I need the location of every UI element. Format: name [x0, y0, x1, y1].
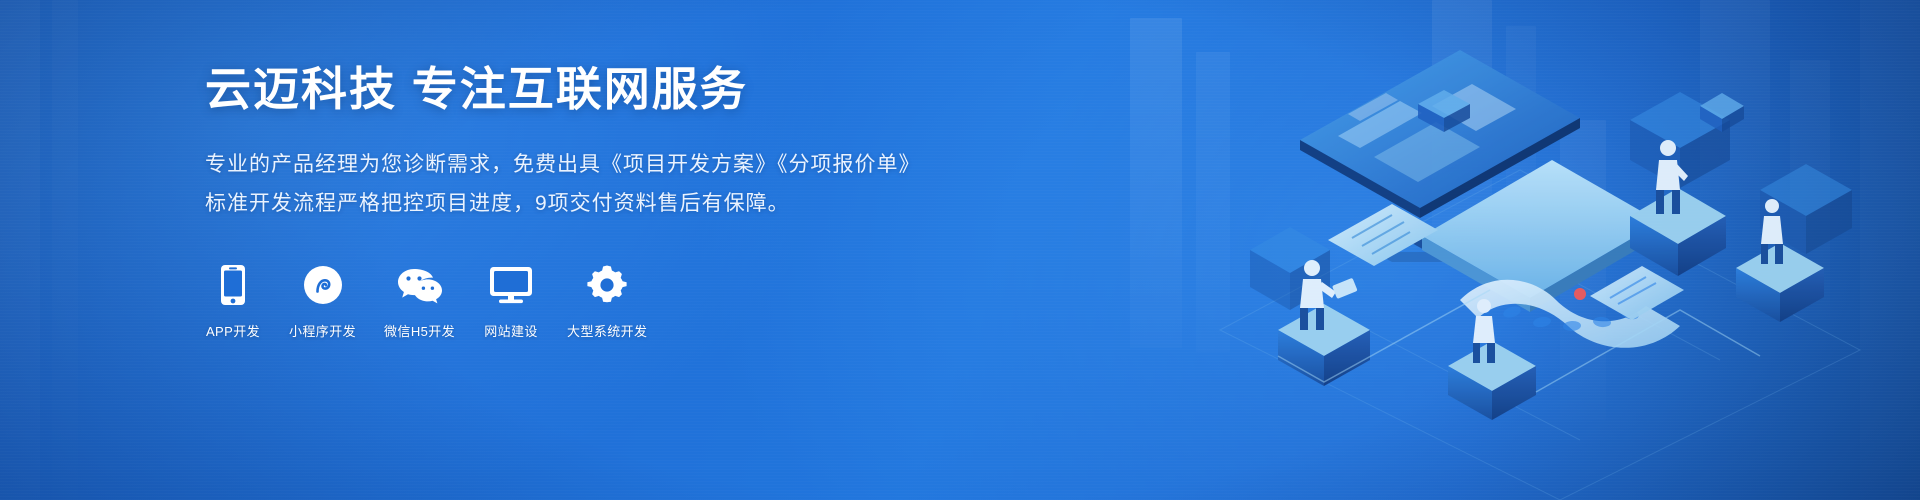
service-item-large-system[interactable]: 大型系统开发: [567, 262, 647, 340]
hero-banner: 云迈科技 专注互联网服务 专业的产品经理为您诊断需求，免费出具《项目开发方案》《…: [0, 0, 1920, 500]
mini-program-icon: [300, 262, 346, 308]
service-label: 小程序开发: [289, 321, 356, 340]
service-item-website[interactable]: 网站建设: [483, 262, 539, 340]
service-label: 网站建设: [484, 321, 538, 340]
service-label: 大型系统开发: [567, 321, 647, 340]
subtitle-line-1: 专业的产品经理为您诊断需求，免费出具《项目开发方案》《分项报价单》: [205, 146, 965, 185]
banner-content: 云迈科技 专注互联网服务 专业的产品经理为您诊断需求，免费出具《项目开发方案》《…: [205, 62, 965, 340]
service-list: APP开发 小程序开发: [205, 262, 965, 340]
monitor-icon: [488, 262, 534, 308]
service-item-app[interactable]: APP开发: [205, 262, 261, 340]
page-title: 云迈科技 专注互联网服务: [205, 62, 965, 116]
isometric-illustration: [1160, 0, 1920, 500]
service-item-wechat-h5[interactable]: 微信H5开发: [384, 262, 455, 340]
banner-subtitle: 专业的产品经理为您诊断需求，免费出具《项目开发方案》《分项报价单》 标准开发流程…: [205, 146, 965, 224]
bg-bar: [52, 0, 78, 500]
gear-icon: [584, 262, 630, 308]
service-label: APP开发: [206, 321, 260, 340]
smartphone-icon: [210, 262, 256, 308]
subtitle-line-2: 标准开发流程严格把控项目进度，9项交付资料售后有保障。: [205, 185, 965, 224]
service-label: 微信H5开发: [384, 321, 455, 340]
service-item-mini-program[interactable]: 小程序开发: [289, 262, 356, 340]
bg-bar: [0, 0, 40, 500]
wechat-icon: [397, 262, 443, 308]
